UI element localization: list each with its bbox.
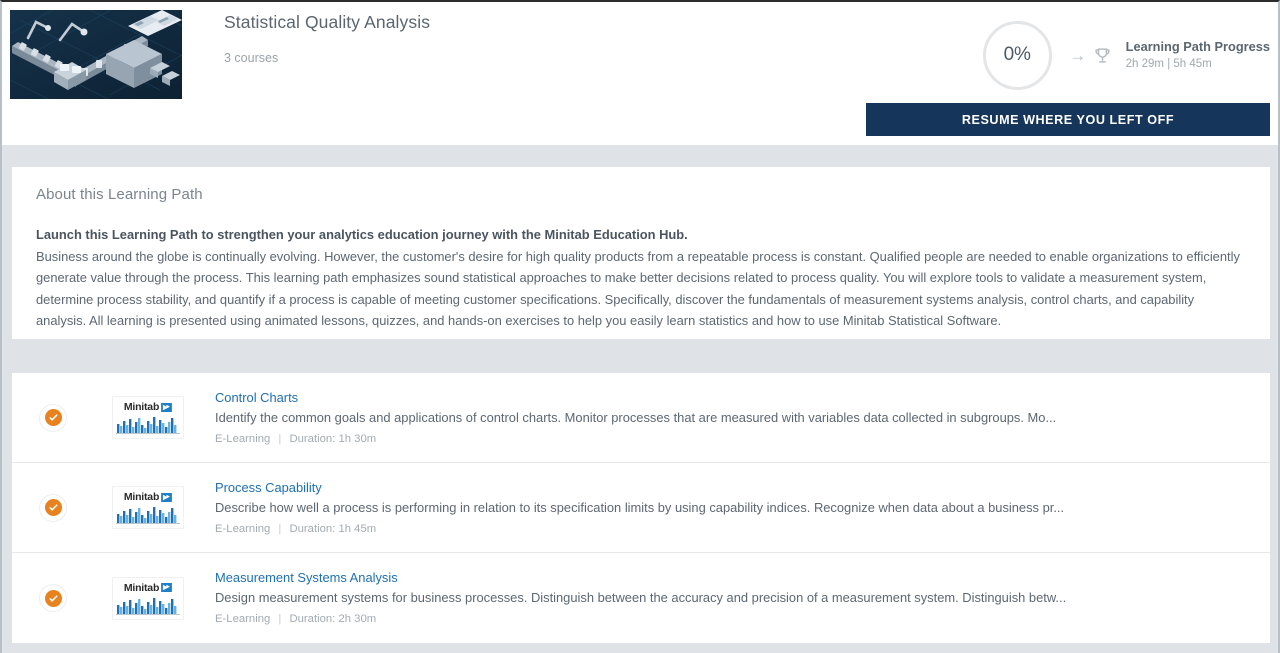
about-lead-text: Launch this Learning Path to strengthen …: [36, 224, 1246, 246]
meta-separator: |: [278, 613, 281, 625]
course-type: E-Learning: [215, 613, 270, 625]
course-description: Describe how well a process is performin…: [215, 498, 1256, 517]
course-description: Design measurement systems for business …: [215, 588, 1256, 607]
trophy-icon: [1093, 46, 1112, 65]
course-details: Measurement Systems Analysis Design meas…: [215, 568, 1256, 628]
minitab-logo-icon: [161, 493, 172, 502]
course-details: Process Capability Describe how well a p…: [215, 478, 1256, 538]
check-icon: [45, 409, 62, 426]
check-circle-icon: [39, 584, 67, 612]
check-icon: [45, 499, 62, 516]
course-description: Identify the common goals and applicatio…: [215, 408, 1256, 427]
learning-path-page: Statistical Quality Analysis 3 courses 0…: [0, 0, 1280, 653]
about-body-text: Business around the globe is continually…: [36, 246, 1246, 332]
bar-chart-icon: [116, 596, 180, 615]
course-meta: E-Learning | Duration: 1h 30m: [215, 430, 1256, 448]
resume-where-you-left-off-button[interactable]: RESUME WHERE YOU LEFT OFF: [866, 103, 1270, 136]
course-duration: Duration: 2h 30m: [289, 613, 376, 625]
progress-times: 2h 29m | 5h 45m: [1126, 56, 1270, 72]
course-meta: E-Learning | Duration: 2h 30m: [215, 610, 1256, 628]
course-title-link[interactable]: Process Capability: [215, 478, 1256, 497]
course-thumbnail: Minitab: [112, 577, 184, 620]
course-type: E-Learning: [215, 523, 270, 535]
minitab-logo-icon: [161, 583, 172, 592]
minitab-wordmark: Minitab: [124, 582, 159, 594]
progress-text-block: Learning Path Progress 2h 29m | 5h 45m: [1126, 38, 1270, 72]
progress-label: Learning Path Progress: [1126, 38, 1270, 55]
about-learning-path-card: About this Learning Path Launch this Lea…: [12, 167, 1270, 339]
about-heading: About this Learning Path: [36, 185, 1246, 205]
hero-image: [10, 10, 182, 99]
course-title-link[interactable]: Measurement Systems Analysis: [215, 568, 1256, 587]
progress-percent: 0%: [1004, 44, 1031, 66]
table-row[interactable]: Minitab: [12, 463, 1270, 553]
learning-path-progress: 0% → Learning Path Progress 2h 29m | 5h …: [866, 16, 1270, 94]
course-thumbnail: Minitab: [112, 486, 184, 529]
minitab-wordmark: Minitab: [124, 491, 159, 503]
course-meta: E-Learning | Duration: 1h 45m: [215, 520, 1256, 538]
minitab-wordmark: Minitab: [124, 401, 159, 413]
course-details: Control Charts Identify the common goals…: [215, 388, 1256, 448]
check-icon: [45, 590, 62, 607]
header-titles: Statistical Quality Analysis 3 courses: [224, 10, 430, 67]
page-header: Statistical Quality Analysis 3 courses 0…: [2, 2, 1278, 145]
meta-separator: |: [278, 433, 281, 445]
check-circle-icon: [39, 494, 67, 522]
course-thumbnail: Minitab: [112, 396, 184, 439]
course-title-link[interactable]: Control Charts: [215, 388, 1256, 407]
table-row[interactable]: Minitab: [12, 553, 1270, 643]
progress-donut: 0%: [983, 21, 1052, 90]
minitab-logo-icon: [161, 403, 172, 412]
meta-separator: |: [278, 523, 281, 535]
table-row[interactable]: Minitab: [12, 373, 1270, 463]
bar-chart-icon: [116, 505, 180, 524]
course-count: 3 courses: [224, 49, 430, 67]
bar-chart-icon: [116, 415, 180, 434]
arrow-right-icon: →: [1065, 47, 1091, 64]
course-list-card: Minitab: [12, 373, 1270, 639]
check-circle-icon: [39, 404, 67, 432]
course-duration: Duration: 1h 30m: [289, 433, 376, 445]
course-type: E-Learning: [215, 433, 270, 445]
course-duration: Duration: 1h 45m: [289, 523, 376, 535]
page-title: Statistical Quality Analysis: [224, 10, 430, 34]
